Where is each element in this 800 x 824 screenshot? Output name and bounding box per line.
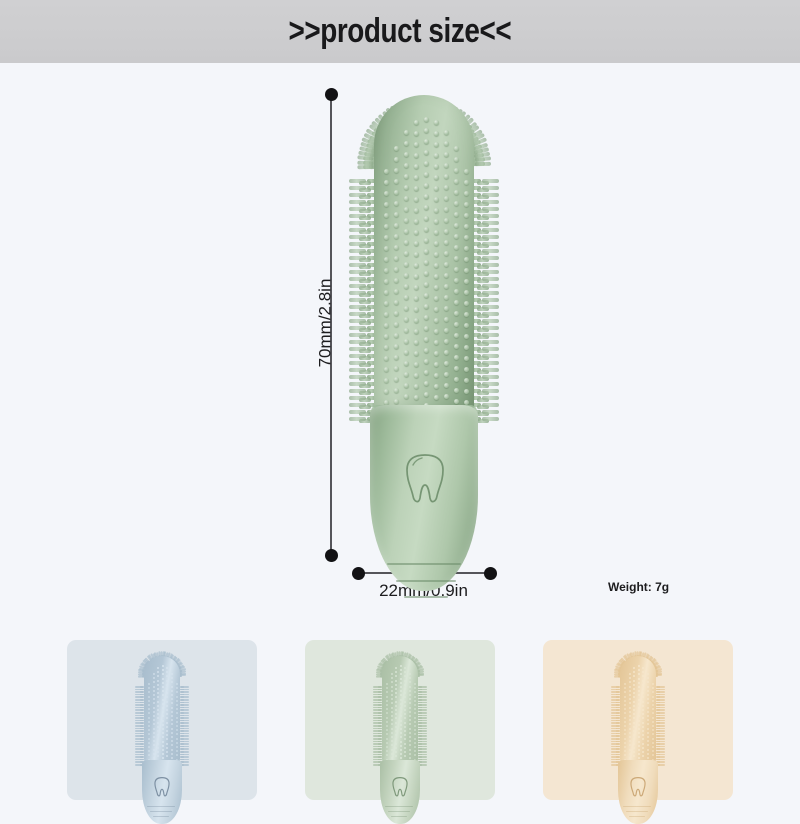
- variant-product-image: [131, 654, 193, 794]
- tooth-icon: [153, 776, 171, 798]
- variant-handle-ridge: [153, 816, 169, 817]
- variant-handle-ridge: [147, 806, 175, 807]
- variant-bump-texture: [622, 659, 654, 762]
- variant-handle-ridge: [385, 806, 413, 807]
- variant-card-green[interactable]: [305, 640, 495, 800]
- tooth-icon: [629, 776, 647, 798]
- variant-handle-ridge: [623, 806, 651, 807]
- handle-ridge: [387, 563, 461, 565]
- weight-label: Weight: 7g: [608, 580, 669, 594]
- variant-handle-ridge: [391, 816, 407, 817]
- product-size-stage: 70mm/2.8in 22mm/0.9in Weight: 7g: [0, 63, 800, 628]
- variant-handle-ridge: [629, 816, 645, 817]
- page-header: >>product size<<: [0, 0, 800, 63]
- color-variant-gallery: [0, 628, 800, 800]
- variant-card-beige[interactable]: [543, 640, 733, 800]
- variant-handle-ridge: [150, 811, 172, 812]
- height-dimension-endpoint-top: [325, 88, 338, 101]
- variant-handle-ridge: [626, 811, 648, 812]
- tooth-icon: [402, 451, 448, 507]
- tooth-icon: [391, 776, 409, 798]
- height-dimension-endpoint-bottom: [325, 549, 338, 562]
- variant-bump-texture: [384, 659, 416, 762]
- brush-bump-texture: [378, 99, 470, 413]
- variant-product-image: [369, 654, 431, 794]
- handle-ridge: [404, 596, 448, 598]
- variant-bump-texture: [146, 659, 178, 762]
- variant-card-blue[interactable]: [67, 640, 257, 800]
- handle-ridge: [396, 580, 456, 582]
- product-image-main: [352, 83, 497, 583]
- height-dimension-label: 70mm/2.8in: [315, 279, 335, 368]
- variant-handle-ridge: [388, 811, 410, 812]
- page-title: >>product size<<: [289, 12, 512, 51]
- variant-product-image: [607, 654, 669, 794]
